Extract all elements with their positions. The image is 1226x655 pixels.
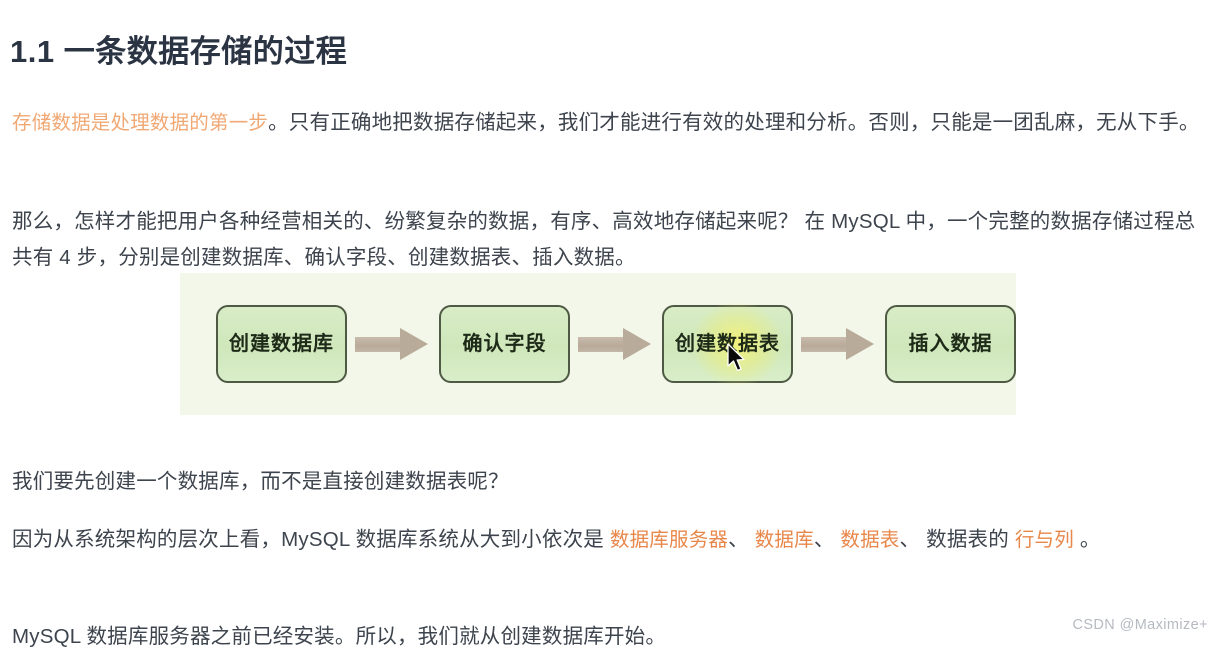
hierarchy-tail-text: 。 — [1074, 528, 1101, 551]
flow-step-create-table[interactable]: 创建数据表 — [662, 305, 793, 383]
hierarchy-separator-3: 、 — [900, 528, 927, 551]
arrow-head — [623, 328, 651, 360]
page-title: 1.1 一条数据存储的过程 — [10, 33, 347, 70]
hierarchy-separator-2: 、 — [814, 528, 841, 551]
hierarchy-mid-text: 数据表的 — [926, 528, 1015, 551]
flow-step-label: 确认字段 — [463, 334, 547, 354]
arrow-head — [846, 328, 874, 360]
flow-step-label: 插入数据 — [909, 334, 993, 354]
arrow-shaft — [801, 337, 849, 352]
paragraph-four-steps-text: 那么，怎样才能把用户各种经营相关的、纷繁复杂的数据，有序、高效地存储起来呢？ 在… — [12, 210, 1195, 269]
hierarchy-lead-text: 因为从系统架构的层次上看，MySQL 数据库系统从大到小依次是 — [12, 528, 610, 551]
flow-arrow-icon-1 — [355, 328, 431, 360]
paragraph-server-installed-text: MySQL 数据库服务器之前已经安装。所以，我们就从创建数据库开始。 — [12, 625, 666, 648]
flow-step-label: 创建数据表 — [675, 334, 780, 354]
flow-arrow-icon-3 — [801, 328, 877, 360]
paragraph-intro-rest: 。只有正确地把数据存储起来，我们才能进行有效的处理和分析。否则，只能是一团乱麻，… — [268, 111, 1200, 134]
highlighted-term-database-server: 数据库服务器 — [610, 528, 728, 551]
flow-step-create-database[interactable]: 创建数据库 — [216, 305, 347, 383]
paragraph-why-database-first: 我们要先创建一个数据库，而不是直接创建数据表呢？ — [12, 464, 1012, 500]
flow-step-confirm-fields[interactable]: 确认字段 — [439, 305, 570, 383]
paragraph-why-database-first-text: 我们要先创建一个数据库，而不是直接创建数据表呢？ — [12, 470, 509, 493]
paragraph-four-steps: 那么，怎样才能把用户各种经营相关的、纷繁复杂的数据，有序、高效地存储起来呢？ 在… — [12, 204, 1214, 276]
highlighted-phrase-first-step: 存储数据是处理数据的第一步 — [12, 111, 268, 134]
hierarchy-separator-1: 、 — [728, 528, 755, 551]
paragraph-intro: 存储数据是处理数据的第一步。只有正确地把数据存储起来，我们才能进行有效的处理和分… — [12, 105, 1212, 141]
storage-process-flow-diagram: 创建数据库 确认字段 创建数据表 插入数据 — [180, 273, 1016, 415]
highlighted-term-rows-columns: 行与列 — [1015, 528, 1074, 551]
csdn-watermark: CSDN @Maximize+ — [1072, 617, 1208, 633]
highlighted-term-data-table: 数据表 — [840, 528, 899, 551]
flow-step-insert-data[interactable]: 插入数据 — [885, 305, 1016, 383]
flow-arrow-icon-2 — [578, 328, 654, 360]
highlighted-term-database: 数据库 — [755, 528, 814, 551]
paragraph-server-installed: MySQL 数据库服务器之前已经安装。所以，我们就从创建数据库开始。 — [12, 619, 1012, 655]
arrow-shaft — [355, 337, 403, 352]
flow-step-label: 创建数据库 — [229, 334, 334, 354]
paragraph-architecture-hierarchy: 因为从系统架构的层次上看，MySQL 数据库系统从大到小依次是 数据库服务器、 … — [12, 522, 1214, 558]
article-page: 1.1 一条数据存储的过程 存储数据是处理数据的第一步。只有正确地把数据存储起来… — [0, 0, 1226, 641]
flow-steps-row: 创建数据库 确认字段 创建数据表 插入数据 — [180, 273, 1016, 415]
arrow-head — [400, 328, 428, 360]
arrow-shaft — [578, 337, 626, 352]
